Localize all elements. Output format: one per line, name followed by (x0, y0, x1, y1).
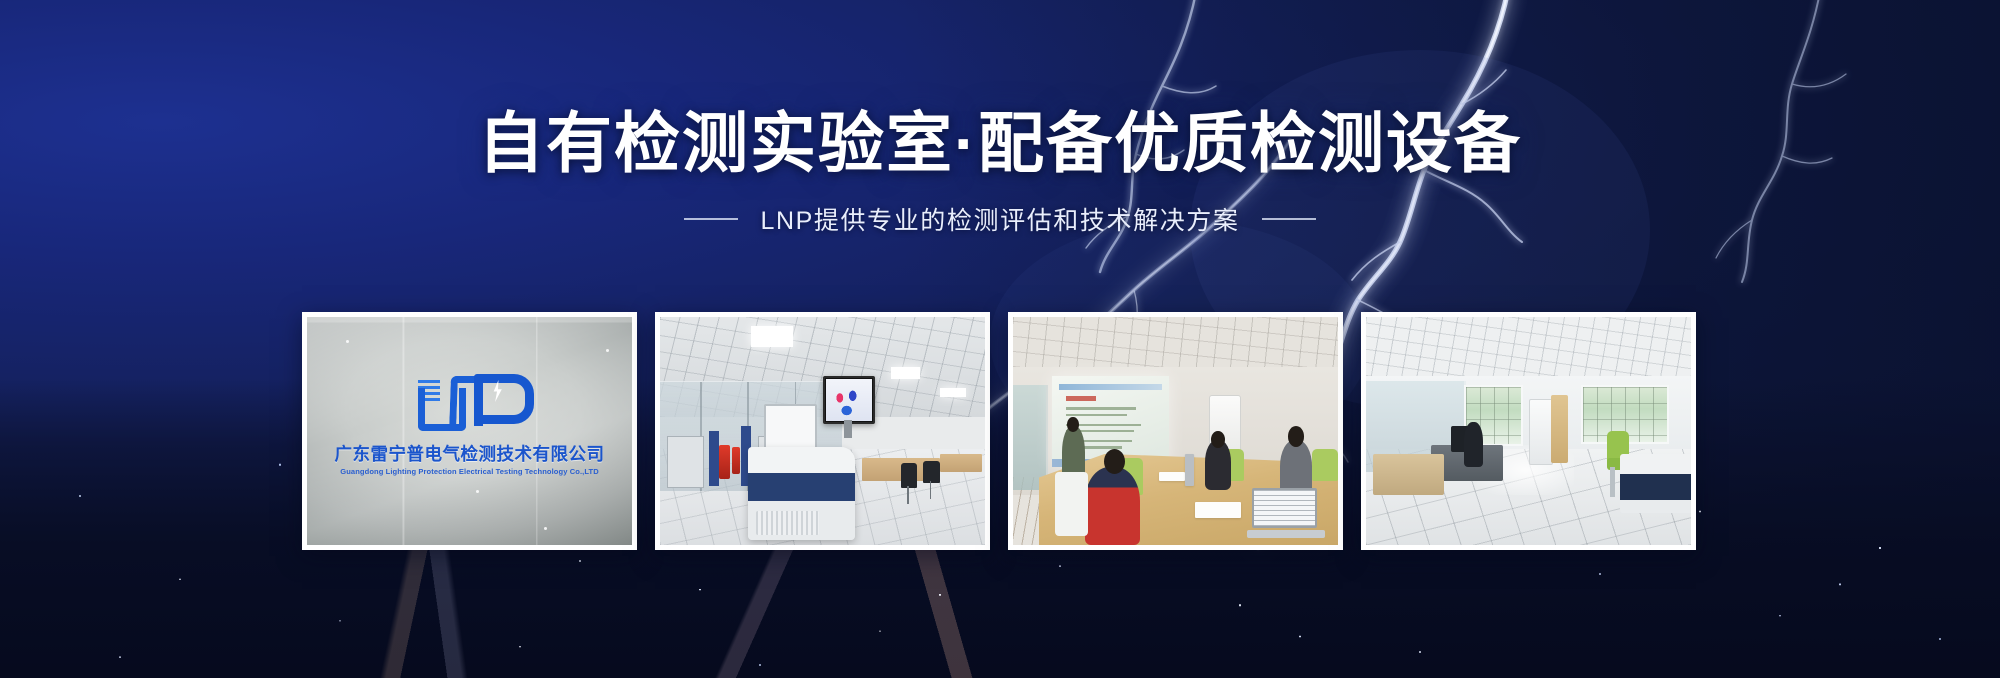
laptop-screen (1252, 488, 1317, 528)
photo-meeting-room (1013, 317, 1338, 545)
photo-testing-laboratory (660, 317, 985, 545)
photo-office-workspace (1366, 317, 1691, 545)
office-desk (1373, 454, 1445, 495)
lab-chair (901, 463, 917, 488)
ceiling-light (940, 388, 966, 397)
dash-right-icon (1262, 218, 1316, 220)
documents-on-table (1159, 472, 1185, 481)
lnp-monogram-icon (416, 374, 524, 426)
documents-on-table (1195, 502, 1241, 518)
photo-strip: 广东雷宁普电气检测技术有限公司 Guangdong Lighting Prote… (302, 312, 1696, 550)
company-name-en: Guangdong Lighting Protection Electrical… (307, 467, 632, 476)
console-vent (756, 511, 818, 535)
storage-cabinet (1529, 399, 1554, 465)
wooden-shelf (1551, 395, 1567, 463)
photo-frame-4[interactable] (1361, 312, 1696, 550)
test-rig-column (709, 431, 719, 486)
ceiling-light (891, 367, 920, 378)
meeting-ceiling (1013, 317, 1338, 367)
wall-monitor (823, 376, 876, 423)
hero-banner: 自有检测实验室·配备优质检测设备 LNP提供专业的检测评估和技术解决方案 (0, 0, 2000, 678)
ceiling-light (751, 326, 793, 347)
chair-leg (907, 486, 909, 504)
test-rig-cylinder (732, 447, 740, 474)
presenter-head (1067, 417, 1079, 432)
white-chair (1055, 472, 1088, 536)
reception-counter (1620, 454, 1692, 513)
attendee-person-red (1085, 467, 1140, 545)
photo-frame-1[interactable]: 广东雷宁普电气检测技术有限公司 Guangdong Lighting Prote… (302, 312, 637, 550)
company-logo: 广东雷宁普电气检测技术有限公司 Guangdong Lighting Prote… (307, 374, 632, 476)
attendee-head (1211, 431, 1225, 448)
laptop (1247, 488, 1325, 538)
page-subtitle: LNP提供专业的检测评估和技术解决方案 (760, 201, 1239, 237)
photo-frame-2[interactable] (655, 312, 990, 550)
chair-chrome-leg (1610, 467, 1615, 497)
glass-spark (606, 349, 609, 352)
photo-frame-3[interactable] (1008, 312, 1343, 550)
control-console (748, 447, 855, 540)
thermos-flask (1185, 454, 1193, 486)
dash-left-icon (684, 218, 738, 220)
office-ceiling (1366, 317, 1691, 376)
green-chair (1312, 449, 1338, 481)
test-rig-cylinder (719, 445, 730, 479)
lab-chair (923, 461, 939, 484)
attendee-head (1288, 426, 1304, 447)
company-name-cn: 广东雷宁普电气检测技术有限公司 (307, 441, 632, 466)
photo-company-logo-wall: 广东雷宁普电气检测技术有限公司 Guangdong Lighting Prote… (307, 317, 632, 545)
lab-desk (940, 454, 982, 472)
subtitle-row: LNP提供专业的检测评估和技术解决方案 (0, 201, 2000, 237)
page-title: 自有检测实验室·配备优质检测设备 (0, 108, 2000, 179)
headline-block: 自有检测实验室·配备优质检测设备 LNP提供专业的检测评估和技术解决方案 (0, 108, 2000, 237)
glass-spark (346, 340, 349, 343)
slide-heading (1066, 396, 1096, 401)
glass-door (1013, 385, 1048, 490)
chair-leg (930, 481, 932, 499)
seated-employee (1464, 422, 1484, 468)
slide-titlebar (1059, 384, 1162, 390)
monitor-mount (844, 420, 852, 438)
test-rig-frame (667, 436, 705, 488)
laptop-base (1247, 530, 1325, 538)
